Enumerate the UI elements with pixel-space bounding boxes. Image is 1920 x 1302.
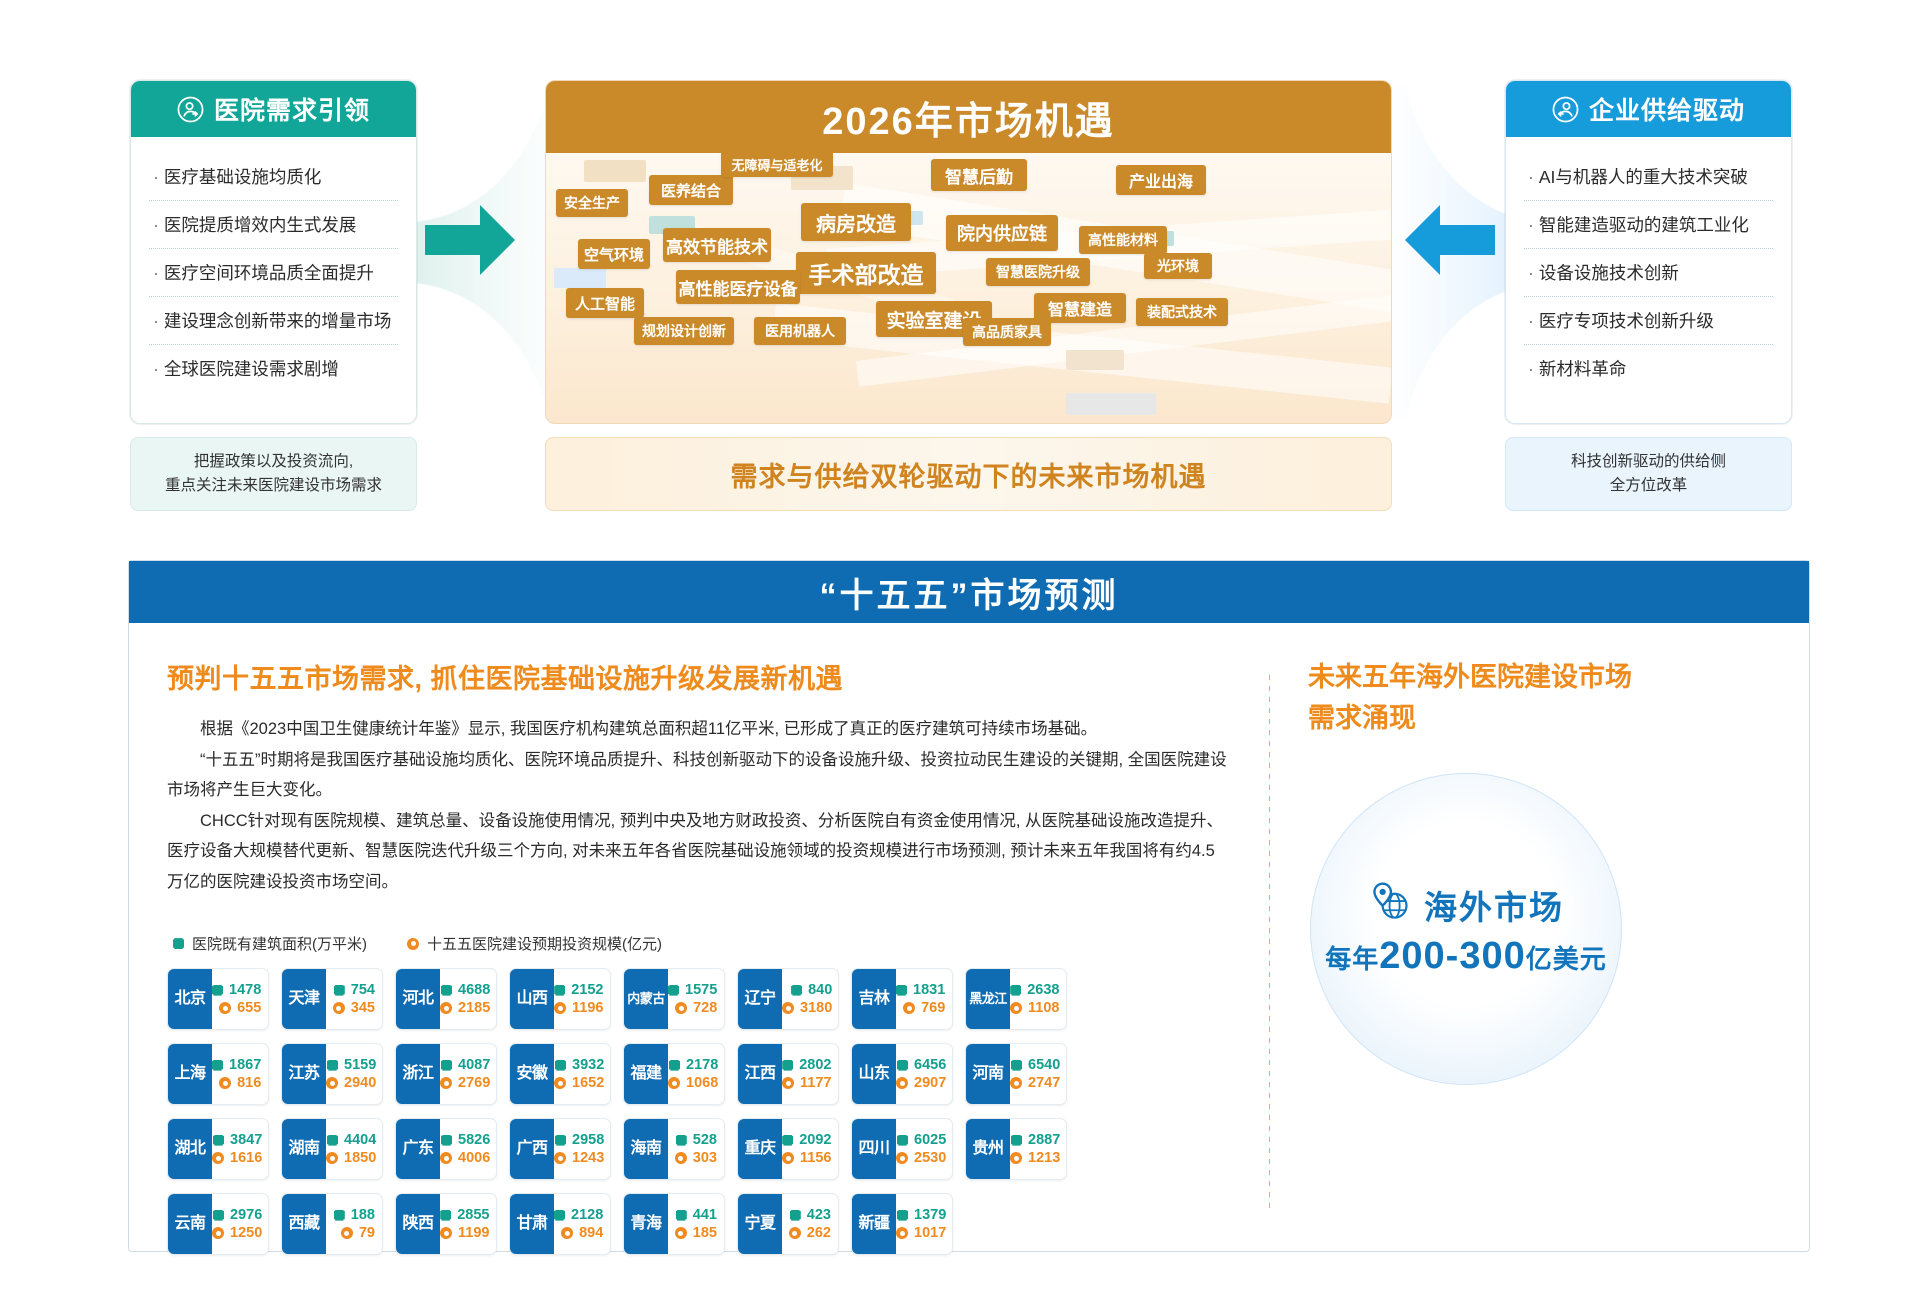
- investment-number: 1199: [458, 1225, 489, 1241]
- circle-marker-icon: [554, 1152, 566, 1164]
- demand-note-line2: 重点关注未来医院建设市场需求: [165, 474, 382, 498]
- demand-panel-title: 医院需求引领: [214, 91, 370, 127]
- province-area-value: 4688: [440, 982, 490, 998]
- area-number: 2958: [572, 1132, 604, 1148]
- square-marker-icon: [213, 1135, 224, 1146]
- forecast-paragraph: “十五五”时期将是我国医疗基础设施均质化、医院环境品质提升、科技创新驱动下的设备…: [167, 745, 1231, 806]
- demand-panel-list: ·医疗基础设施均质化 ·医院提质增效内生式发展 ·医疗空间环境品质全面提升 ·建…: [131, 137, 416, 402]
- province-values: 26381108: [1010, 969, 1066, 1029]
- province-investment-value: 2747: [1010, 1075, 1060, 1091]
- province-card[interactable]: 上海1867816: [167, 1043, 269, 1105]
- area-number: 4087: [458, 1057, 490, 1073]
- supply-note-line1: 科技创新驱动的供给侧: [1571, 450, 1726, 474]
- area-number: 1575: [685, 982, 717, 998]
- province-investment-value: 345: [326, 1000, 375, 1016]
- province-values: 28871213: [1010, 1119, 1067, 1179]
- overseas-market-circle: 海外市场 每年200-300亿美元: [1310, 773, 1622, 1085]
- province-area-value: 2128: [554, 1207, 603, 1223]
- province-card[interactable]: 辽宁8403180: [737, 968, 839, 1030]
- province-card[interactable]: 云南29761250: [167, 1193, 269, 1255]
- province-name: 甘肃: [510, 1194, 554, 1254]
- province-card[interactable]: 江苏51592940: [281, 1043, 383, 1105]
- province-investment-value: 2907: [896, 1075, 946, 1091]
- area-number: 528: [693, 1132, 717, 1148]
- investment-number: 728: [693, 1000, 717, 1016]
- legend-item: 医院既有建筑面积(万平米): [173, 933, 367, 954]
- province-values: 46882185: [440, 969, 497, 1029]
- province-area-value: 6540: [1010, 1057, 1060, 1073]
- center-note-box: 需求与供给双轮驱动下的未来市场机遇: [545, 437, 1392, 511]
- investment-number: 3180: [800, 1000, 832, 1016]
- circle-marker-icon: [896, 1077, 908, 1089]
- province-card[interactable]: 甘肃2128894: [509, 1193, 611, 1255]
- tag-chip[interactable]: 医用机器人: [754, 317, 846, 345]
- province-investment-value: 4006: [440, 1150, 490, 1166]
- province-values: 28551199: [440, 1194, 496, 1254]
- square-marker-icon: [440, 1210, 451, 1221]
- block-decoration: [1066, 393, 1156, 415]
- square-marker-icon: [676, 1135, 687, 1146]
- square-marker-icon: [441, 1135, 452, 1146]
- square-marker-icon: [782, 1135, 793, 1146]
- province-values: 1575728: [668, 969, 724, 1029]
- province-card[interactable]: 内蒙古1575728: [623, 968, 725, 1030]
- investment-number: 1243: [572, 1150, 604, 1166]
- circle-marker-icon: [440, 1002, 452, 1014]
- province-values: 58264006: [440, 1119, 497, 1179]
- province-investment-value: 1850: [326, 1150, 376, 1166]
- province-values: 441185: [668, 1194, 724, 1254]
- tag-chip[interactable]: 空气环境: [578, 239, 650, 269]
- province-investment-value: 1196: [554, 1000, 603, 1016]
- province-investment-value: 1250: [212, 1225, 262, 1241]
- province-card[interactable]: 陕西28551199: [395, 1193, 497, 1255]
- province-card[interactable]: 宁夏423262: [737, 1193, 839, 1255]
- investment-number: 1250: [230, 1225, 262, 1241]
- province-investment-value: 655: [212, 1000, 261, 1016]
- square-marker-icon: [327, 1060, 338, 1071]
- province-card[interactable]: 安徽39321652: [509, 1043, 611, 1105]
- area-number: 4688: [458, 982, 490, 998]
- province-area-value: 2802: [782, 1057, 831, 1073]
- province-name: 江苏: [282, 1044, 326, 1104]
- investment-number: 1213: [1028, 1150, 1060, 1166]
- block-decoration: [554, 268, 606, 288]
- tag-chip[interactable]: 安全生产: [556, 189, 628, 217]
- list-item[interactable]: ·设备设施技术创新: [1524, 249, 1773, 297]
- list-item-label: AI与机器人的重大技术突破: [1539, 167, 1748, 187]
- province-card[interactable]: 山东64562907: [851, 1043, 953, 1105]
- province-values: 38471616: [212, 1119, 269, 1179]
- area-number: 2152: [571, 982, 603, 998]
- province-values: 13791017: [896, 1194, 953, 1254]
- circle-marker-icon: [896, 1152, 908, 1164]
- province-area-value: 1867: [212, 1057, 261, 1073]
- circle-marker-icon: [789, 1227, 801, 1239]
- square-marker-icon: [212, 1060, 223, 1071]
- area-number: 423: [807, 1207, 831, 1223]
- province-name: 河南: [966, 1044, 1010, 1104]
- right-arrow-icon: [1405, 205, 1495, 275]
- province-investment-value: 1616: [212, 1150, 262, 1166]
- province-investment-value: 894: [554, 1225, 603, 1241]
- tag-chip[interactable]: 智慧医院升级: [986, 258, 1090, 286]
- investment-number: 1108: [1028, 1000, 1059, 1016]
- circle-marker-icon: [326, 1077, 338, 1089]
- province-investment-value: 769: [896, 1000, 945, 1016]
- area-number: 2855: [457, 1207, 489, 1223]
- investment-number: 1156: [800, 1150, 831, 1166]
- overseas-badge: 海外市场: [1368, 880, 1564, 929]
- list-item-label: 建设理念创新带来的增量市场: [164, 311, 392, 331]
- forecast-left-column: 预判十五五市场需求, 抓住医院基础设施升级发展新机遇 根据《2023中国卫生健康…: [129, 623, 1269, 1251]
- area-number: 6540: [1028, 1057, 1060, 1073]
- area-number: 2128: [571, 1207, 603, 1223]
- province-name: 浙江: [396, 1044, 440, 1104]
- infographic-root: 医院需求引领 ·医疗基础设施均质化 ·医院提质增效内生式发展 ·医疗空间环境品质…: [0, 0, 1920, 1302]
- area-number: 2092: [799, 1132, 831, 1148]
- list-item[interactable]: ·新材料革命: [1524, 345, 1773, 392]
- province-values: 754345: [326, 969, 382, 1029]
- area-number: 6025: [914, 1132, 946, 1148]
- circle-marker-icon: [675, 1002, 687, 1014]
- investment-number: 1850: [344, 1150, 376, 1166]
- list-item[interactable]: ·医疗基础设施均质化: [149, 153, 398, 201]
- circle-marker-icon: [782, 1152, 794, 1164]
- tag-chip[interactable]: 病房改造: [801, 203, 911, 241]
- investment-number: 2769: [458, 1075, 490, 1091]
- forecast-paragraph: CHCC针对现有医院规模、建筑总量、设备设施使用情况, 预判中央及地方财政投资、…: [167, 806, 1231, 898]
- province-area-value: 2178: [668, 1057, 718, 1073]
- tag-chip[interactable]: 高性能材料: [1079, 226, 1167, 254]
- province-area-value: 4087: [440, 1057, 490, 1073]
- investment-number: 2530: [914, 1150, 946, 1166]
- list-item[interactable]: ·医疗专项技术创新升级: [1524, 297, 1773, 345]
- circle-marker-icon: [219, 1002, 231, 1014]
- province-card[interactable]: 贵州28871213: [965, 1118, 1067, 1180]
- province-name: 安徽: [510, 1044, 554, 1104]
- circle-marker-icon: [333, 1002, 345, 1014]
- area-number: 2887: [1028, 1132, 1060, 1148]
- square-marker-icon: [334, 1210, 345, 1221]
- province-values: 423262: [782, 1194, 838, 1254]
- area-number: 840: [808, 982, 832, 998]
- province-values: 65402747: [1010, 1044, 1067, 1104]
- tag-chip[interactable]: 光环境: [1144, 253, 1212, 279]
- square-marker-icon: [791, 985, 802, 996]
- province-values: 40872769: [440, 1044, 497, 1104]
- forecast-right-column: 未来五年海外医院建设市场 需求涌现: [1270, 623, 1809, 1251]
- province-name: 上海: [168, 1044, 212, 1104]
- square-marker-icon: [173, 938, 184, 949]
- province-card[interactable]: 四川60252530: [851, 1118, 953, 1180]
- circle-marker-icon: [407, 938, 419, 950]
- square-marker-icon: [897, 1135, 908, 1146]
- overseas-amount: 每年200-300亿美元: [1325, 935, 1607, 978]
- circle-marker-icon: [1010, 1002, 1022, 1014]
- square-marker-icon: [1011, 1135, 1022, 1146]
- province-area-value: 4404: [326, 1132, 376, 1148]
- province-values: 8403180: [782, 969, 839, 1029]
- tag-chip[interactable]: 医养结合: [649, 175, 733, 205]
- investment-number: 1652: [572, 1075, 604, 1091]
- investment-number: 1177: [800, 1075, 831, 1091]
- square-marker-icon: [896, 985, 907, 996]
- province-investment-value: 1652: [554, 1075, 604, 1091]
- province-area-value: 840: [782, 982, 832, 998]
- forecast-card: “十五五”市场预测 预判十五五市场需求, 抓住医院基础设施升级发展新机遇 根据《…: [128, 560, 1810, 1252]
- list-item-label: 医疗专项技术创新升级: [1539, 311, 1714, 331]
- province-name: 重庆: [738, 1119, 782, 1179]
- province-card[interactable]: 海南528303: [623, 1118, 725, 1180]
- province-name: 广东: [396, 1119, 440, 1179]
- province-investment-value: 1177: [782, 1075, 831, 1091]
- province-area-value: 1831: [896, 982, 945, 998]
- province-grid: 北京1478655天津754345河北46882185山西21521196内蒙古…: [167, 968, 1231, 1255]
- area-number: 188: [351, 1207, 375, 1223]
- province-name: 海南: [624, 1119, 668, 1179]
- square-marker-icon: [897, 1210, 908, 1221]
- forecast-body: 预判十五五市场需求, 抓住医院基础设施升级发展新机遇 根据《2023中国卫生健康…: [129, 623, 1809, 1251]
- investment-number: 2747: [1028, 1075, 1060, 1091]
- area-number: 1831: [913, 982, 945, 998]
- market-opportunity-panel: 2026年市场机遇 安全生产 医养结合 无障碍: [545, 80, 1392, 424]
- circle-marker-icon: [554, 1077, 566, 1089]
- circle-marker-icon: [1010, 1152, 1022, 1164]
- province-name: 黑龙江: [966, 969, 1010, 1029]
- area-number: 2976: [230, 1207, 262, 1223]
- top-section: 医院需求引领 ·医疗基础设施均质化 ·医院提质增效内生式发展 ·医疗空间环境品质…: [0, 0, 1920, 540]
- square-marker-icon: [555, 1060, 566, 1071]
- square-marker-icon: [669, 1060, 680, 1071]
- province-card[interactable]: 吉林1831769: [851, 968, 953, 1030]
- tag-chip[interactable]: 高品质家具: [963, 318, 1051, 346]
- province-area-value: 1478: [212, 982, 261, 998]
- province-area-value: 754: [326, 982, 375, 998]
- province-card[interactable]: 湖南44041850: [281, 1118, 383, 1180]
- province-area-value: 2855: [440, 1207, 489, 1223]
- left-arrow-icon: [425, 205, 515, 275]
- area-number: 5826: [458, 1132, 490, 1148]
- investment-number: 1616: [230, 1150, 262, 1166]
- supply-panel: 企业供给驱动 ·AI与机器人的重大技术突破 ·智能建造驱动的建筑工业化 ·设备设…: [1505, 80, 1792, 424]
- person-demand-icon: [177, 96, 204, 123]
- province-name: 新疆: [852, 1194, 896, 1254]
- province-investment-value: 2185: [440, 1000, 490, 1016]
- province-name: 广西: [510, 1119, 554, 1179]
- list-item-label: 设备设施技术创新: [1539, 263, 1679, 283]
- list-item[interactable]: ·智能建造驱动的建筑工业化: [1524, 201, 1773, 249]
- province-card[interactable]: 河南65402747: [965, 1043, 1067, 1105]
- investment-number: 1017: [914, 1225, 946, 1241]
- province-card[interactable]: 北京1478655: [167, 968, 269, 1030]
- province-card[interactable]: 重庆20921156: [737, 1118, 839, 1180]
- province-values: 44041850: [326, 1119, 383, 1179]
- province-investment-value: 2530: [896, 1150, 946, 1166]
- area-number: 2802: [799, 1057, 831, 1073]
- circle-marker-icon: [326, 1152, 338, 1164]
- tag-chip[interactable]: 智慧后勤: [931, 159, 1027, 191]
- province-card[interactable]: 河北46882185: [395, 968, 497, 1030]
- province-values: 51592940: [326, 1044, 383, 1104]
- investment-number: 345: [351, 1000, 375, 1016]
- circle-marker-icon: [903, 1002, 915, 1014]
- area-number: 6456: [914, 1057, 946, 1073]
- tag-chip[interactable]: 高效节能技术: [663, 228, 771, 262]
- circle-marker-icon: [896, 1227, 908, 1239]
- province-card[interactable]: 山西21521196: [509, 968, 611, 1030]
- list-item-label: 新材料革命: [1539, 359, 1627, 379]
- province-values: 29761250: [212, 1194, 269, 1254]
- overseas-title-line1: 未来五年海外医院建设市场: [1308, 657, 1779, 698]
- province-name: 陕西: [396, 1194, 440, 1254]
- overseas-title: 未来五年海外医院建设市场 需求涌现: [1308, 657, 1779, 738]
- area-number: 754: [351, 982, 375, 998]
- overseas-amount-suffix: 亿美元: [1526, 944, 1607, 974]
- province-row: 湖北38471616湖南44041850广东58264006广西29581243…: [167, 1118, 1231, 1180]
- circle-marker-icon: [675, 1227, 687, 1239]
- circle-marker-icon: [668, 1077, 680, 1089]
- province-name: 河北: [396, 969, 440, 1029]
- province-card[interactable]: 江西28021177: [737, 1043, 839, 1105]
- investment-number: 1196: [572, 1000, 603, 1016]
- province-investment-value: 303: [668, 1150, 717, 1166]
- square-marker-icon: [441, 1060, 452, 1071]
- province-investment-value: 2940: [326, 1075, 376, 1091]
- demand-panel-header: 医院需求引领: [131, 81, 416, 137]
- square-marker-icon: [554, 985, 565, 996]
- province-area-value: 441: [668, 1207, 717, 1223]
- tag-chip[interactable]: 装配式技术: [1136, 298, 1228, 326]
- block-decoration: [1066, 350, 1124, 370]
- province-card[interactable]: 浙江40872769: [395, 1043, 497, 1105]
- province-investment-value: 79: [326, 1225, 375, 1241]
- circle-marker-icon: [440, 1152, 452, 1164]
- circle-marker-icon: [782, 1002, 794, 1014]
- tag-chip[interactable]: 人工智能: [566, 288, 644, 318]
- province-investment-value: 185: [668, 1225, 717, 1241]
- list-item[interactable]: ·全球医院建设需求剧增: [149, 345, 398, 392]
- province-name: 贵州: [966, 1119, 1010, 1179]
- list-item[interactable]: ·AI与机器人的重大技术突破: [1524, 153, 1773, 201]
- forecast-lead-title: 预判十五五市场需求, 抓住医院基础设施升级发展新机遇: [167, 657, 1231, 696]
- circle-marker-icon: [219, 1077, 231, 1089]
- list-item-label: 全球医院建设需求剧增: [164, 359, 339, 379]
- investment-number: 2185: [458, 1000, 490, 1016]
- province-area-value: 3932: [554, 1057, 604, 1073]
- province-values: 1831769: [896, 969, 952, 1029]
- supply-panel-list: ·AI与机器人的重大技术突破 ·智能建造驱动的建筑工业化 ·设备设施技术创新 ·…: [1506, 137, 1791, 402]
- square-marker-icon: [334, 985, 345, 996]
- square-marker-icon: [668, 985, 679, 996]
- province-area-value: 2976: [212, 1207, 262, 1223]
- tag-chip[interactable]: 高性能医疗设备: [676, 270, 800, 304]
- province-card[interactable]: 广东58264006: [395, 1118, 497, 1180]
- province-investment-value: 1199: [440, 1225, 489, 1241]
- circle-marker-icon: [212, 1227, 224, 1239]
- province-investment-value: 728: [668, 1000, 717, 1016]
- province-investment-value: 1213: [1010, 1150, 1060, 1166]
- province-card[interactable]: 天津754345: [281, 968, 383, 1030]
- province-area-value: 1379: [896, 1207, 946, 1223]
- legend-item: 十五五医院建设预期投资规模(亿元): [407, 933, 662, 954]
- tag-chip[interactable]: 手术部改造: [796, 252, 936, 294]
- list-item[interactable]: ·医院提质增效内生式发展: [149, 201, 398, 249]
- province-investment-value: 262: [782, 1225, 831, 1241]
- province-area-value: 2152: [554, 982, 603, 998]
- province-values: 21521196: [554, 969, 610, 1029]
- list-item-label: 医疗空间环境品质全面提升: [164, 263, 374, 283]
- province-name: 青海: [624, 1194, 668, 1254]
- investment-number: 894: [579, 1225, 603, 1241]
- tag-chip[interactable]: 无障碍与适老化: [721, 153, 833, 177]
- province-card[interactable]: 黑龙江26381108: [965, 968, 1067, 1030]
- province-name: 天津: [282, 969, 326, 1029]
- legend-label: 医院既有建筑面积(万平米): [192, 933, 367, 954]
- province-investment-value: 1156: [782, 1150, 831, 1166]
- tag-chip[interactable]: 院内供应链: [946, 215, 1058, 251]
- province-card[interactable]: 湖北38471616: [167, 1118, 269, 1180]
- province-card[interactable]: 福建21781068: [623, 1043, 725, 1105]
- tag-chip[interactable]: 规划设计创新: [634, 317, 734, 345]
- investment-number: 816: [237, 1075, 261, 1091]
- circle-marker-icon: [554, 1002, 566, 1014]
- area-number: 441: [693, 1207, 717, 1223]
- province-name: 四川: [852, 1119, 896, 1179]
- overseas-amount-prefix: 每年: [1325, 944, 1379, 974]
- province-name: 山东: [852, 1044, 896, 1104]
- square-marker-icon: [213, 1210, 224, 1221]
- investment-number: 2907: [914, 1075, 946, 1091]
- square-marker-icon: [1010, 985, 1021, 996]
- list-item[interactable]: ·建设理念创新带来的增量市场: [149, 297, 398, 345]
- province-name: 山西: [510, 969, 554, 1029]
- province-values: 1478655: [212, 969, 268, 1029]
- square-marker-icon: [790, 1210, 801, 1221]
- tag-chip[interactable]: 产业出海: [1116, 165, 1206, 195]
- supply-note-box: 科技创新驱动的供给侧 全方位改革: [1505, 437, 1792, 511]
- province-name: 宁夏: [738, 1194, 782, 1254]
- circle-marker-icon: [212, 1152, 224, 1164]
- area-number: 4404: [344, 1132, 376, 1148]
- supply-note-line2: 全方位改革: [1571, 474, 1726, 498]
- province-name: 内蒙古: [624, 969, 668, 1029]
- area-number: 1478: [229, 982, 261, 998]
- forecast-header: “十五五”市场预测: [129, 561, 1809, 623]
- area-number: 2178: [686, 1057, 718, 1073]
- province-values: 2128894: [554, 1194, 610, 1254]
- province-name: 吉林: [852, 969, 896, 1029]
- legend-label: 十五五医院建设预期投资规模(亿元): [427, 933, 662, 954]
- square-marker-icon: [441, 985, 452, 996]
- list-item[interactable]: ·医疗空间环境品质全面提升: [149, 249, 398, 297]
- province-values: 1867816: [212, 1044, 268, 1104]
- province-investment-value: 1243: [554, 1150, 604, 1166]
- province-card[interactable]: 新疆13791017: [851, 1193, 953, 1255]
- province-card[interactable]: 广西29581243: [509, 1118, 611, 1180]
- province-card[interactable]: 青海441185: [623, 1193, 725, 1255]
- list-item-label: 医院提质增效内生式发展: [164, 215, 357, 235]
- area-number: 1867: [229, 1057, 261, 1073]
- province-investment-value: 2769: [440, 1075, 490, 1091]
- area-number: 2638: [1027, 982, 1059, 998]
- province-values: 20921156: [782, 1119, 838, 1179]
- province-card[interactable]: 西藏18879: [281, 1193, 383, 1255]
- province-area-value: 1575: [668, 982, 717, 998]
- province-name: 云南: [168, 1194, 212, 1254]
- demand-note-box: 把握政策以及投资流向, 重点关注未来医院建设市场需求: [130, 437, 417, 511]
- province-values: 528303: [668, 1119, 724, 1179]
